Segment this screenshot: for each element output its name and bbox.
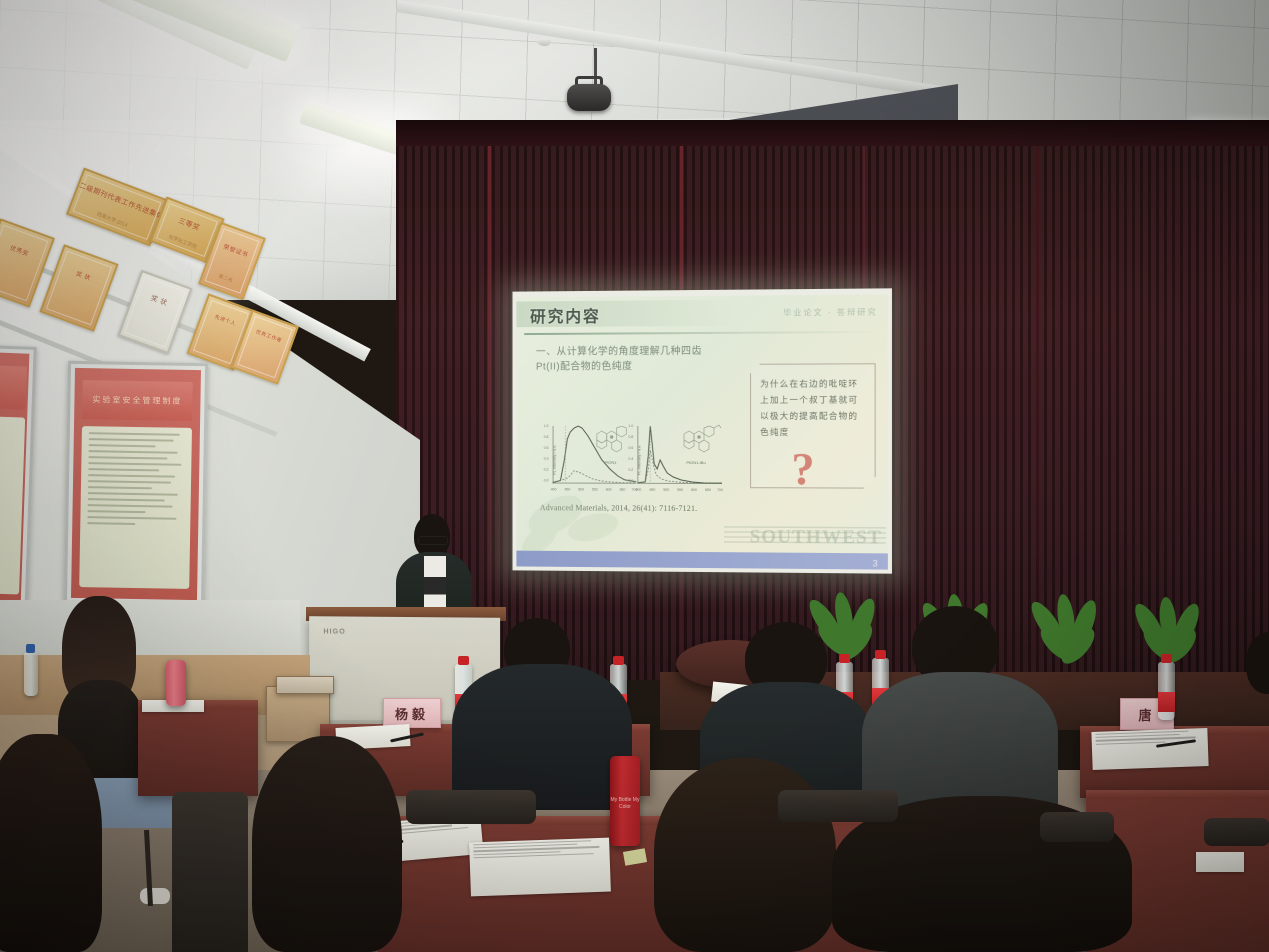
poster-text-line (87, 522, 135, 525)
poster-sheet: 实验室安全管理制度 (71, 368, 201, 600)
y-tick: 0.8 (544, 435, 549, 439)
pl-spectrum-chart-right: PL Intensity / a.u. 1.0 0.8 0.6 0.4 0.2 … (624, 424, 724, 496)
table-surface (1086, 790, 1269, 799)
audience-hair (0, 734, 102, 952)
poster-text-line (87, 510, 145, 513)
y-tick: 1.0 (544, 424, 549, 428)
y-tick: 0.6 (544, 446, 549, 450)
chair (1204, 818, 1269, 846)
poster-text-line (87, 498, 165, 501)
ceiling-projector (567, 84, 611, 111)
projection-screen: 研究内容 毕业论文 · 答辩研究 一、从计算化学的角度理解几种四齿Pt(II)配… (513, 288, 892, 573)
poster-text-line (88, 456, 167, 459)
x-tick: 500 (663, 488, 669, 492)
question-callout-text: 为什么在右边的吡啶环上加上一个叔丁基就可以极大的提高配合物的色纯度 (760, 375, 867, 440)
poster-text-line (88, 444, 156, 447)
chair (172, 792, 248, 952)
molecule-structure-diagram (670, 424, 722, 458)
bottle-cap (26, 644, 35, 653)
pink-thermos (166, 660, 186, 706)
poster-text-line (88, 480, 171, 483)
paper-sheet (469, 838, 611, 897)
poster-header (0, 365, 27, 409)
poster-text-line (88, 474, 175, 478)
x-tick: 400 (635, 488, 641, 492)
podium-brand-label: HIGO (323, 628, 345, 635)
name-card: 杨毅 (383, 698, 441, 728)
slide-subtitle: 一、从计算化学的角度理解几种四齿Pt(II)配合物的色纯度 (536, 344, 724, 375)
poster-text-line (88, 450, 177, 454)
bottle-cap (458, 656, 469, 665)
bottle-label (1158, 692, 1175, 712)
x-tick: 550 (677, 488, 683, 492)
paper-text-line (1096, 741, 1166, 745)
chair (1040, 812, 1114, 842)
audience-hair (654, 758, 836, 952)
poster-text-line (88, 438, 173, 441)
y-tick: 0.6 (628, 446, 633, 450)
plants-foliage (786, 588, 1269, 680)
y-tick: 1.0 (628, 424, 633, 428)
red-thermos: My Bottle My Color (610, 756, 640, 846)
poster-text-line (87, 492, 177, 496)
y-tick: 0.8 (628, 435, 633, 439)
audience-hair (252, 736, 402, 952)
slide-surface: 研究内容 毕业论文 · 答辩研究 一、从计算化学的角度理解几种四齿Pt(II)配… (516, 294, 887, 569)
framed-poster: 实验室安全管理制度 (64, 361, 208, 607)
school-watermark: SOUTHWEST (750, 526, 882, 549)
poster-text-line (88, 468, 160, 471)
paper-sheet (1091, 728, 1208, 770)
slide-page-number: 3 (873, 558, 878, 568)
leaf-watermark-icon (522, 466, 630, 552)
water-bottle (24, 652, 38, 696)
x-tick: 600 (691, 488, 697, 492)
bottle-cap (613, 656, 624, 665)
x-tick: 700 (717, 488, 723, 492)
audience-torso (452, 664, 632, 810)
lecture-room-photo: 二级期刊代表工作先进集体 西南大学 2014 三等奖 化学化工学院 荣誉证书 第… (0, 0, 1269, 952)
paper-sheet (1196, 852, 1244, 872)
poster-text-line (88, 432, 179, 436)
curtain-rail (396, 120, 1269, 146)
slide-footer-bar: 3 (516, 551, 887, 570)
side-desk (138, 700, 258, 796)
poster-text-line (87, 516, 176, 520)
water-bottle (1158, 662, 1175, 720)
smoke-detector-icon (538, 38, 551, 46)
x-tick: 450 (649, 488, 655, 492)
y-tick: 0.4 (628, 457, 633, 461)
poster-body (0, 416, 25, 595)
question-mark-icon: ? (791, 442, 814, 495)
x-tick: 650 (705, 488, 711, 492)
name-card-text: 杨毅 (395, 704, 429, 723)
poster-header-text: 实验室安全管理制度 (82, 380, 194, 421)
poster-body (79, 426, 193, 589)
chair (406, 790, 536, 824)
y-tick: 0.4 (544, 457, 549, 461)
slide-title: 研究内容 (530, 303, 601, 327)
poster-text-line (87, 486, 151, 489)
poster-text-line (87, 504, 172, 507)
slide-header-right: 毕业论文 · 答辩研究 (783, 307, 877, 319)
poster-header: 实验室安全管理制度 (82, 380, 194, 421)
cardboard-box (276, 676, 334, 694)
curtain-fold (488, 120, 491, 680)
question-callout-box: 为什么在右边的吡啶环上加上一个叔丁基就可以极大的提高配合物的色纯度 ? (750, 363, 876, 488)
audience-shoe (140, 888, 170, 904)
thermos-label: My Bottle My Color (610, 797, 640, 811)
presenter-glasses-icon (418, 536, 448, 545)
chair (778, 790, 898, 822)
slide-divider (524, 331, 882, 335)
bottle-cap (1161, 654, 1172, 663)
molecule-label: PtON1-tBu (668, 460, 724, 465)
bottle-cap (875, 650, 886, 659)
poster-sheet (0, 352, 29, 607)
bottle-cap (839, 654, 850, 663)
name-card-text: 唐 (1138, 705, 1155, 724)
poster-text-line (88, 462, 181, 466)
